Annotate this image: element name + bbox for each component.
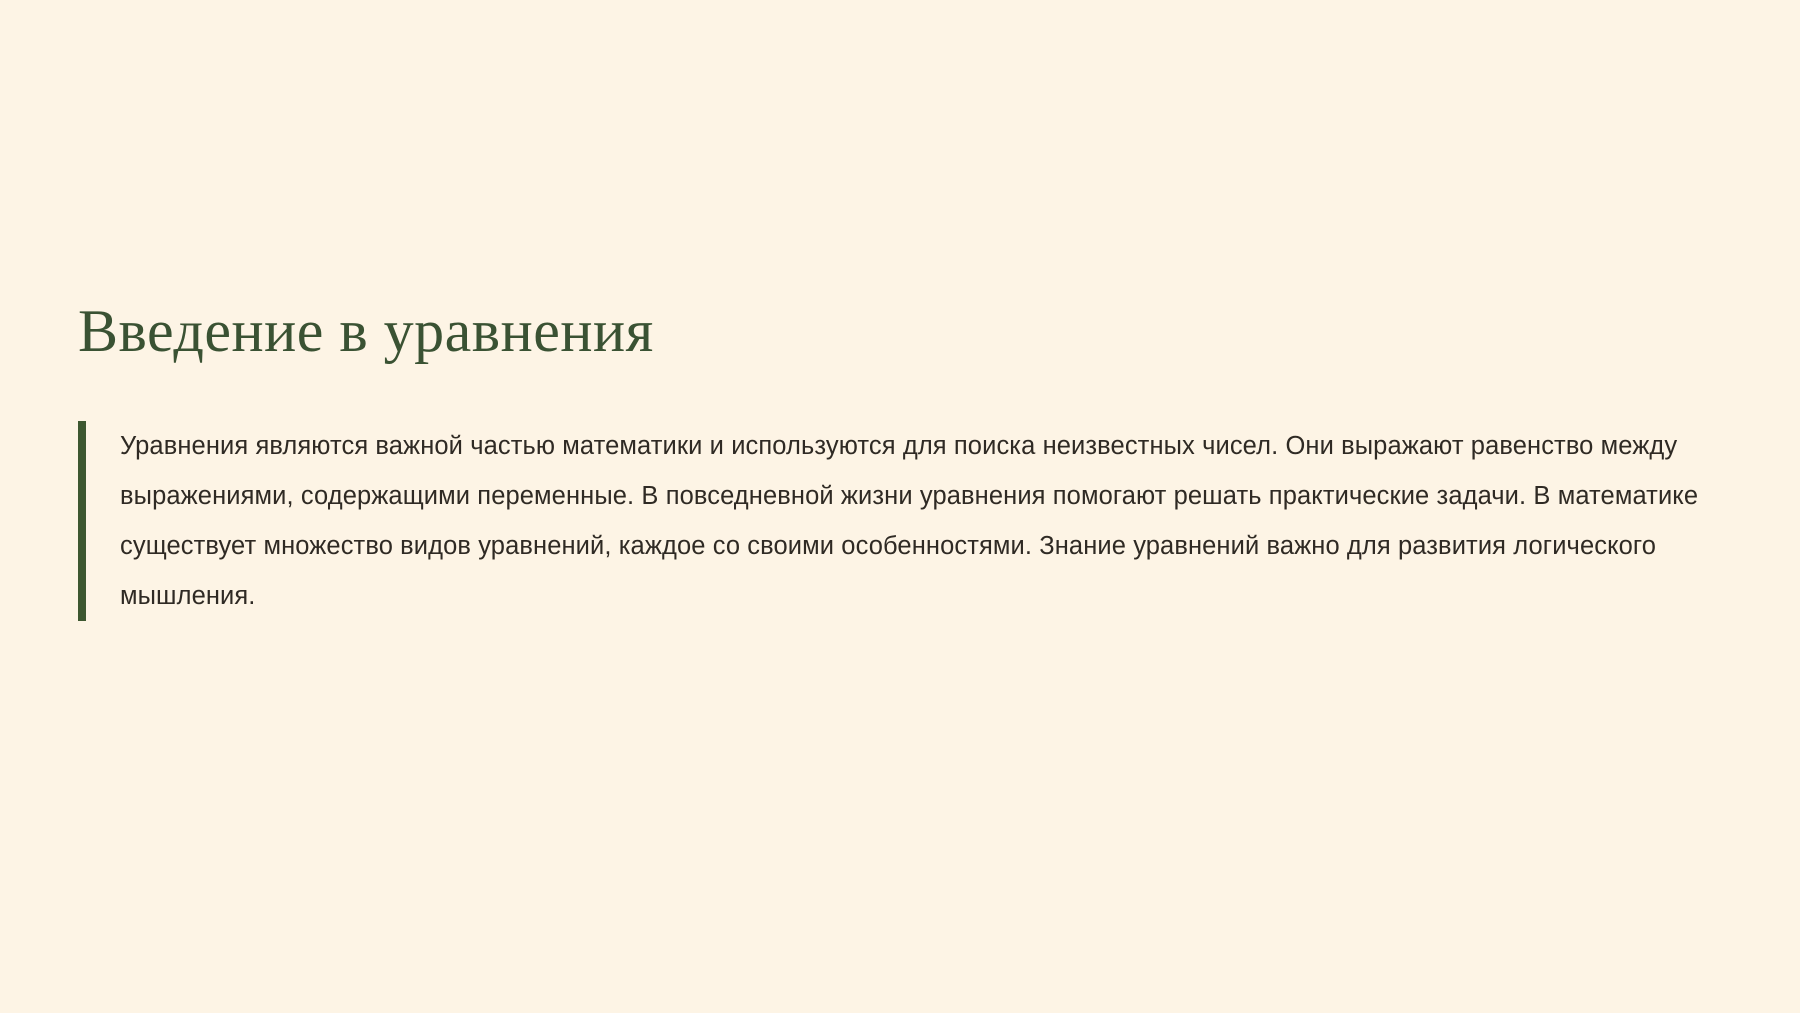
content-block: Введение в уравнения Уравнения являются …: [78, 300, 1718, 621]
body-quote-block: Уравнения являются важной частью математ…: [78, 421, 1718, 621]
body-paragraph: Уравнения являются важной частью математ…: [120, 421, 1718, 621]
page-title: Введение в уравнения: [78, 300, 1718, 363]
slide-canvas: Введение в уравнения Уравнения являются …: [0, 0, 1800, 1013]
